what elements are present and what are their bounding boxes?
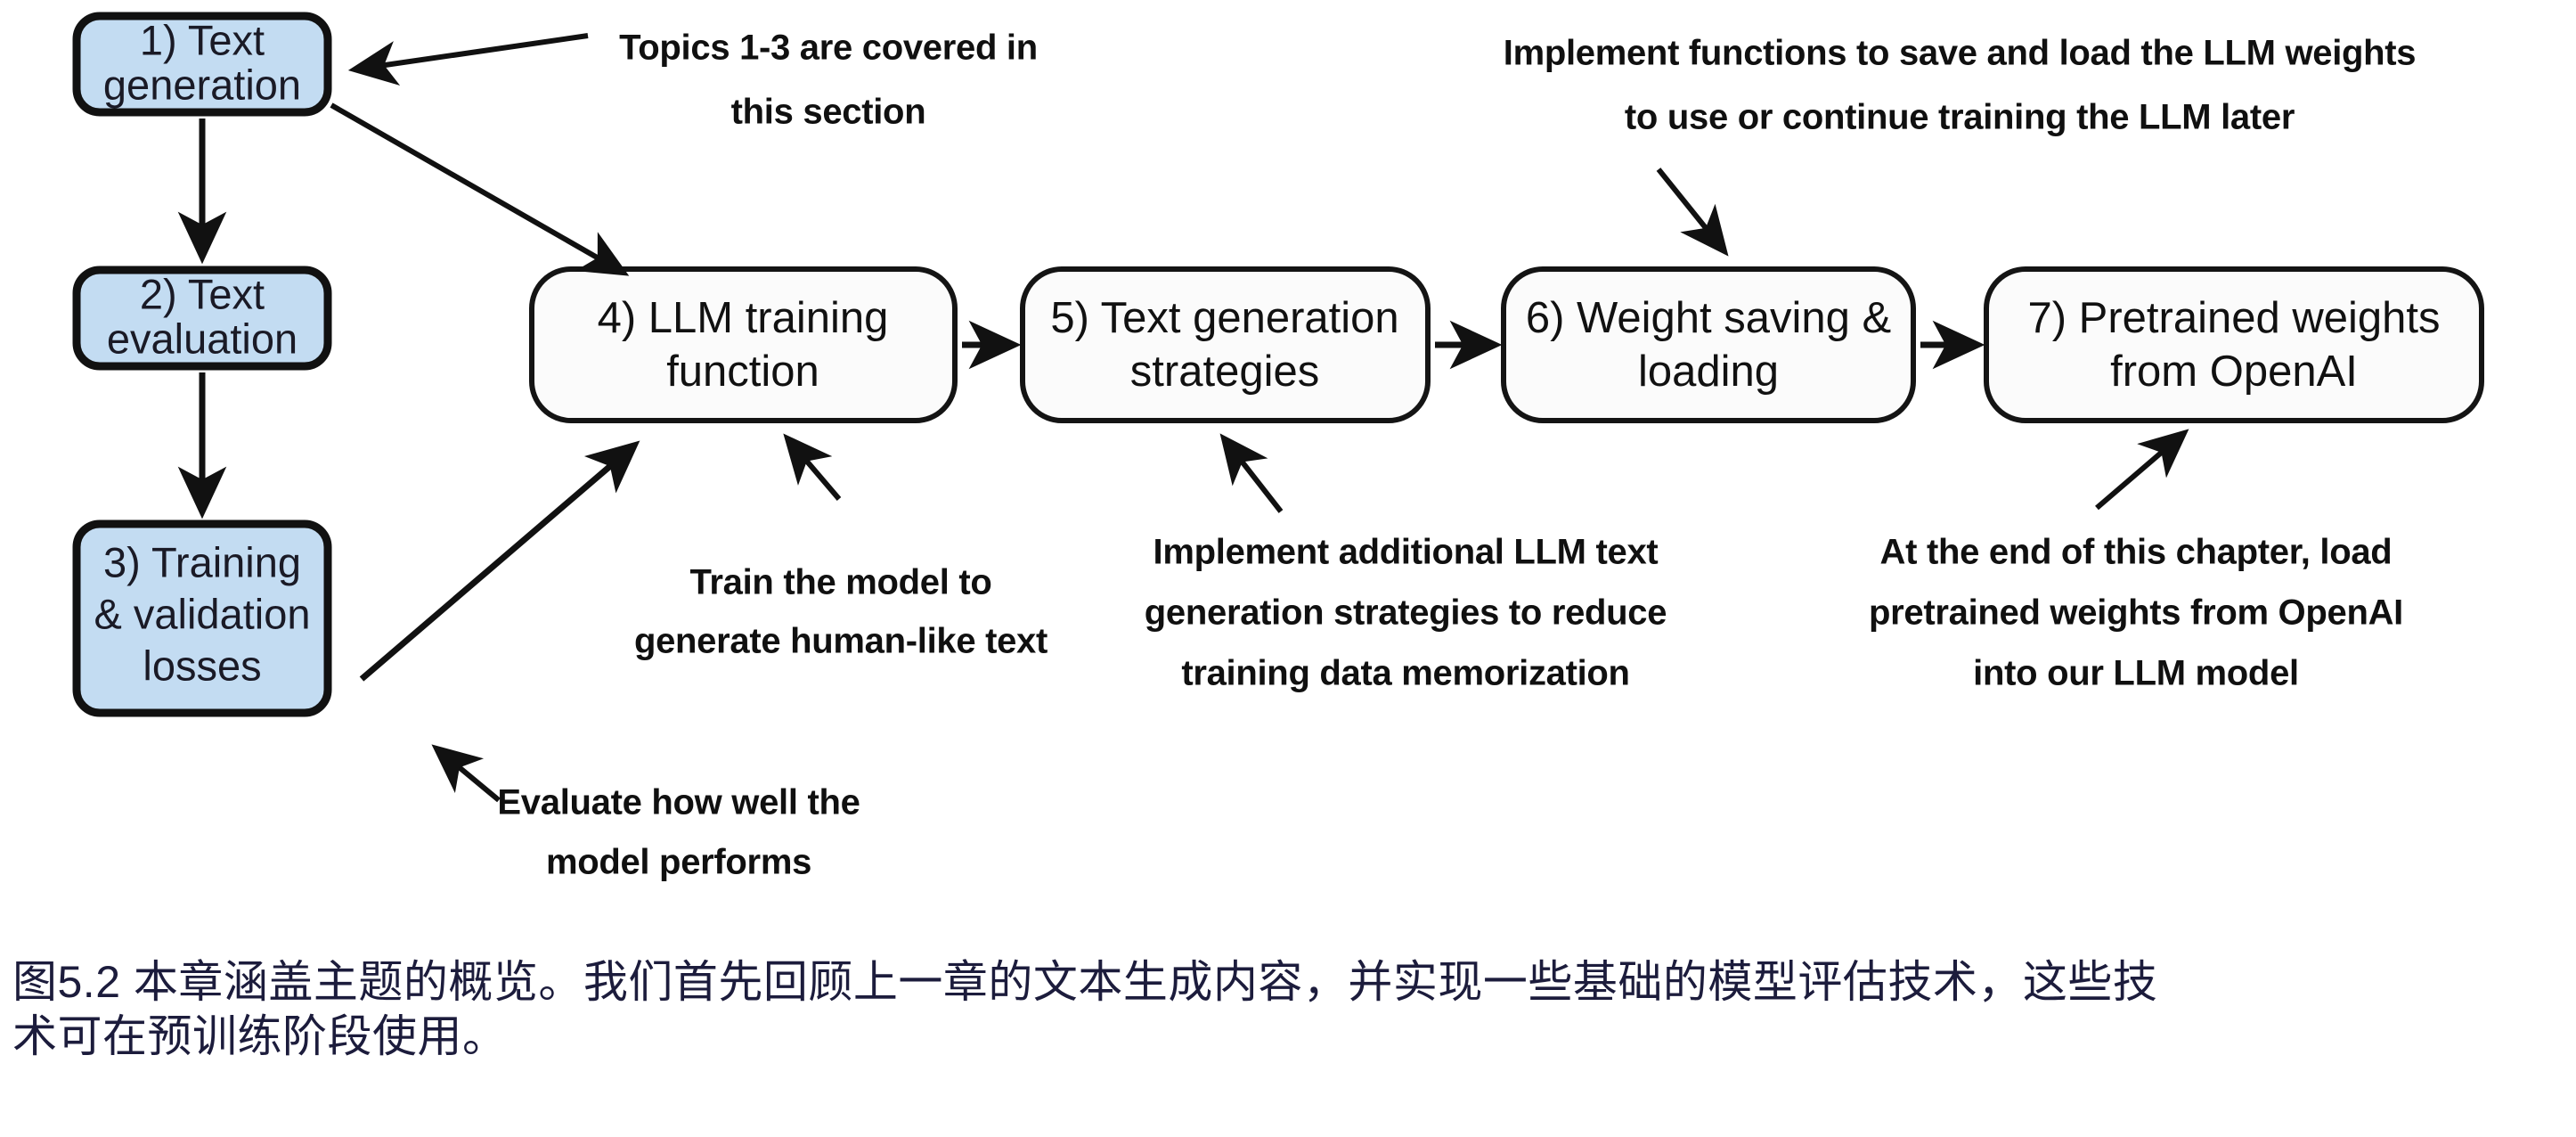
node-stage3-line1: 3) Training — [103, 538, 301, 585]
annotation-pretrained-line2: pretrained weights from OpenAI — [1869, 593, 2403, 633]
node-stage5-line1: 5) Text generation — [1050, 294, 1398, 342]
annotation-gen-strategies-leader — [1224, 438, 1281, 511]
node-stage6-box — [1504, 269, 1913, 421]
annotation-topics-leader — [355, 36, 588, 70]
node-stage5[interactable]: 5) Text generation strategies — [1023, 269, 1428, 421]
edge-stage3-to-stage4 — [362, 446, 634, 679]
node-stage1[interactable]: 1) Text generation — [77, 16, 328, 112]
annotation-pretrained-line1: At the end of this chapter, load — [1880, 533, 2393, 572]
node-stage7-box — [1986, 269, 2482, 421]
node-stage3[interactable]: 3) Training & validation losses — [77, 524, 328, 713]
annotation-weights-save-leader — [1659, 169, 1724, 251]
node-stage4-line1: 4) LLM training — [598, 294, 889, 342]
annotation-weights-save-line2: to use or continue training the LLM late… — [1625, 98, 2295, 137]
annotation-gen-strategies-line1: Implement additional LLM text — [1153, 533, 1659, 572]
annotation-pretrained: At the end of this chapter, load pretrai… — [1869, 433, 2403, 693]
node-stage4-box — [532, 269, 955, 421]
node-stage5-line2: strategies — [1130, 348, 1319, 396]
node-stage7-line2: from OpenAI — [2110, 348, 2358, 396]
annotation-weights-save-line1: Implement functions to save and load the… — [1504, 34, 2417, 73]
figure-container: 1) Text generation 2) Text evaluation 3)… — [0, 0, 2576, 1137]
annotation-train-model-leader — [787, 438, 839, 499]
annotation-gen-strategies: Implement additional LLM text generation… — [1145, 438, 1667, 693]
node-stage2-line2: evaluation — [107, 315, 298, 362]
annotation-evaluate: Evaluate how well the model performs — [436, 748, 860, 882]
annotation-train-model-line1: Train the model to — [689, 563, 991, 602]
node-stage7[interactable]: 7) Pretrained weights from OpenAI — [1986, 269, 2482, 421]
annotation-pretrained-leader — [2097, 433, 2184, 508]
annotation-weights-save: Implement functions to save and load the… — [1504, 34, 2417, 251]
annotation-train-model-line2: generate human-like text — [634, 622, 1048, 661]
annotation-pretrained-line3: into our LLM model — [1973, 654, 2299, 693]
node-stage3-line2: & validation — [94, 590, 311, 637]
node-stage4[interactable]: 4) LLM training function — [532, 269, 955, 421]
node-stage3-line3: losses — [143, 642, 261, 689]
node-stage6-line2: loading — [1638, 348, 1779, 396]
annotation-train-model: Train the model to generate human-like t… — [634, 438, 1048, 661]
annotation-topics-line2: this section — [731, 93, 926, 132]
figure-caption-line-2: 术可在预训练阶段使用。 — [12, 1010, 2560, 1064]
annotation-evaluate-line2: model performs — [546, 843, 811, 882]
node-stage4-line2: function — [666, 348, 819, 396]
annotation-gen-strategies-line3: training data memorization — [1181, 654, 1629, 693]
node-stage7-line1: 7) Pretrained weights — [2027, 294, 2440, 342]
annotation-topics-line1: Topics 1-3 are covered in — [619, 29, 1038, 68]
node-stage6-line1: 6) Weight saving & — [1526, 294, 1891, 342]
node-stage1-line2: generation — [103, 61, 301, 108]
node-stage6[interactable]: 6) Weight saving & loading — [1504, 269, 1913, 421]
figure-caption: 图5.2 本章涵盖主题的概览。我们首先回顾上一章的文本生成内容，并实现一些基础的… — [12, 955, 2560, 1064]
node-stage2-line1: 2) Text — [140, 270, 265, 317]
node-stage2[interactable]: 2) Text evaluation — [77, 270, 328, 366]
annotation-topics: Topics 1-3 are covered in this section — [355, 29, 1038, 132]
flow-diagram: 1) Text generation 2) Text evaluation 3)… — [0, 0, 2576, 945]
edge-stage1-to-stage4 — [331, 105, 624, 273]
annotation-gen-strategies-line2: generation strategies to reduce — [1145, 593, 1667, 633]
node-stage5-box — [1023, 269, 1428, 421]
annotation-evaluate-leader — [436, 748, 499, 800]
figure-caption-line-1: 图5.2 本章涵盖主题的概览。我们首先回顾上一章的文本生成内容，并实现一些基础的… — [12, 955, 2560, 1010]
node-stage1-line1: 1) Text — [140, 16, 265, 63]
annotation-evaluate-line1: Evaluate how well the — [497, 783, 860, 822]
